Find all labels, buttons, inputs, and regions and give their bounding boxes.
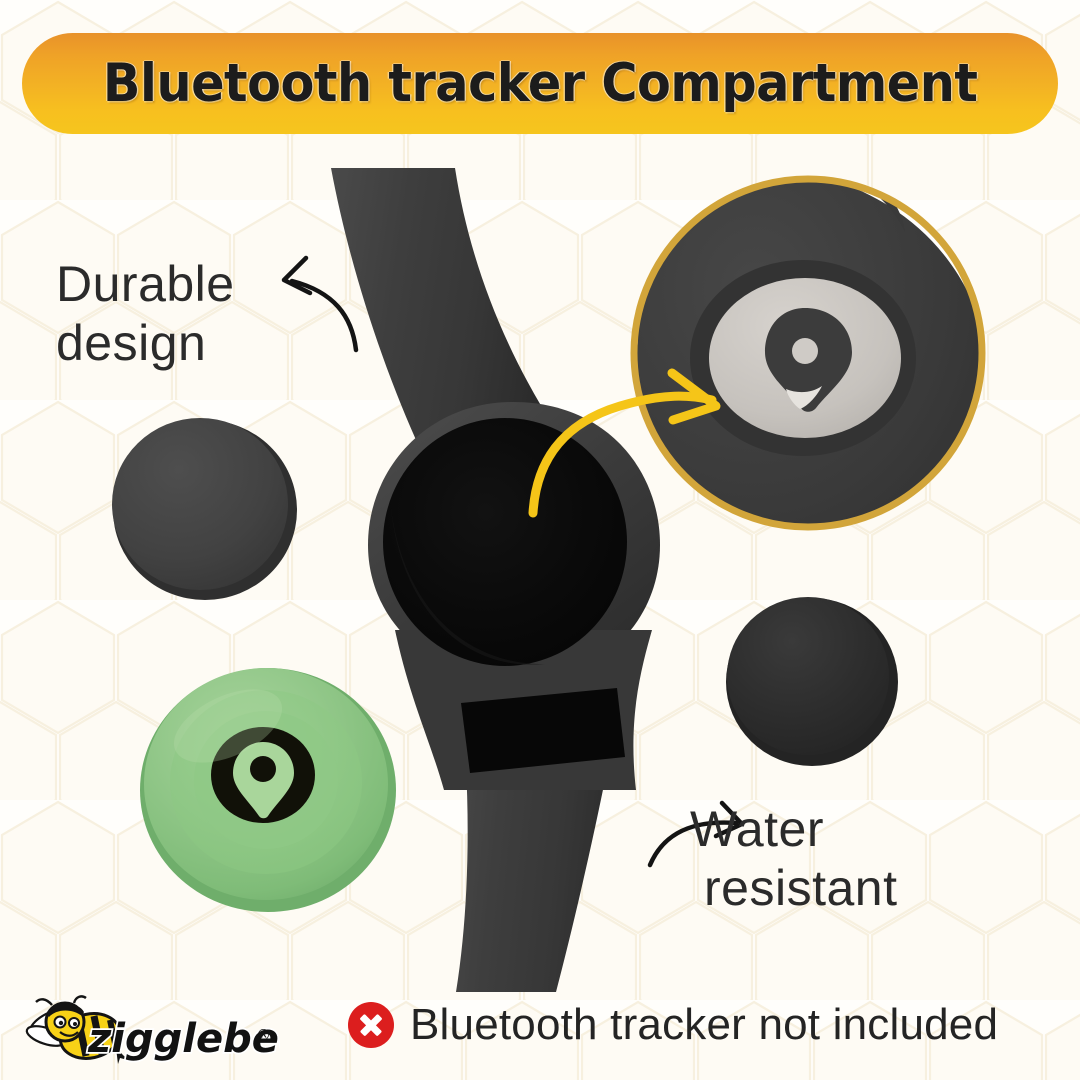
header-banner: Bluetooth tracker Compartment <box>22 33 1058 134</box>
durable-arrow-path <box>292 281 356 350</box>
bee-antenna-left <box>36 999 52 1005</box>
tracker-compartment-cavity <box>383 418 627 666</box>
cover-disc-left <box>112 418 297 600</box>
footer: zigglebee ® Bluetooth tracker not includ… <box>0 984 1080 1080</box>
detail-inset-magnifier <box>612 150 1000 606</box>
brand-logo-svg: zigglebee ® <box>20 992 280 1068</box>
page-title: Bluetooth tracker Compartment <box>103 53 978 114</box>
not-included-label: Bluetooth tracker not included <box>410 1000 998 1050</box>
callout-durable-line1: Durable <box>56 256 235 312</box>
bee-pupil-right <box>73 1022 77 1026</box>
bluetooth-tracker-disc <box>140 668 396 912</box>
product-illustration-svg <box>0 0 1080 1080</box>
red-x-circle-icon <box>348 1002 394 1048</box>
cover-disc-left-face <box>112 418 288 590</box>
product-photo <box>0 0 1080 1080</box>
callout-water-resistant: Water resistant <box>690 800 897 918</box>
brand-registered-mark: ® <box>256 1026 271 1044</box>
inset-notch-bottom <box>660 520 775 600</box>
tracker-pin-hole <box>250 756 276 782</box>
inset-pin-hole <box>792 338 818 364</box>
callout-durable-line2: design <box>56 315 206 371</box>
watch-strap <box>331 168 660 992</box>
brand-logo: zigglebee ® <box>20 992 280 1068</box>
bee-pupil-left <box>59 1021 63 1025</box>
not-included-notice: Bluetooth tracker not included <box>348 1000 998 1050</box>
callout-water-line2: resistant <box>690 859 897 918</box>
bee-antenna-right <box>74 996 86 1003</box>
brand-wordmark: zigglebee <box>87 1016 280 1062</box>
cover-disc-right <box>726 597 898 766</box>
callout-arrow-durable <box>284 258 356 350</box>
callout-durable-design: Durable design <box>56 255 235 373</box>
cover-disc-right-face <box>727 597 889 755</box>
callout-water-line1: Water <box>690 801 824 857</box>
